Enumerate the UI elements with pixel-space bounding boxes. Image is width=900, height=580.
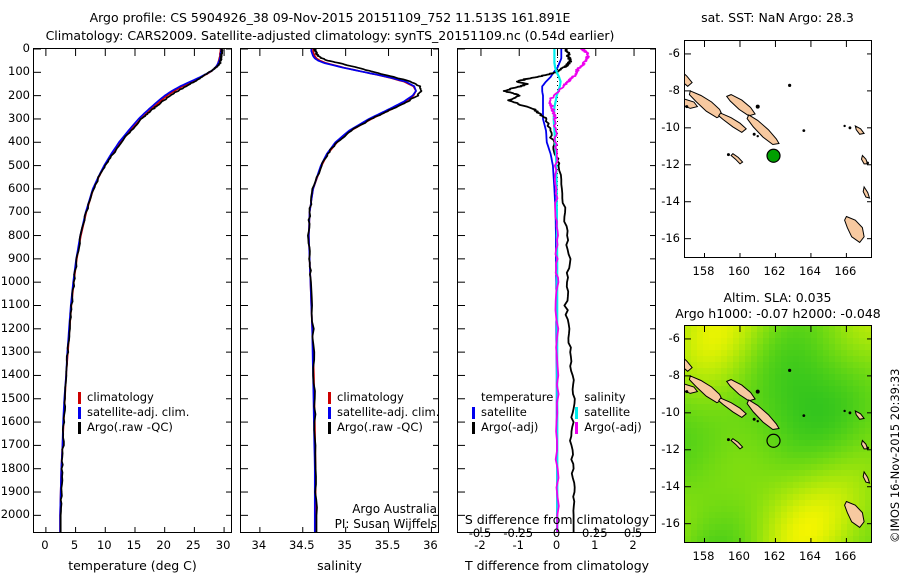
legend-item: Argo(.raw -QC) (78, 420, 189, 435)
axis-tick-label: 162 (754, 549, 794, 563)
page-title-line2: Climatology: CARS2009. Satellite-adjuste… (0, 28, 660, 43)
small-island-dot (843, 410, 845, 412)
axis-tick-label: 1 (575, 538, 615, 552)
axis-tick-label: 162 (754, 264, 794, 278)
plot-canvas (685, 326, 872, 543)
axis-tick-label: 164 (790, 549, 830, 563)
legend-color-swatch (472, 407, 475, 419)
small-island-dot (757, 135, 759, 137)
axis-tick-label: -14 (654, 194, 680, 208)
legend-color-swatch (328, 392, 331, 404)
small-island-dot (788, 84, 791, 87)
data-series-line (60, 49, 220, 533)
axis-tick-label: 34.5 (280, 538, 324, 552)
legend-item: climatology (328, 390, 439, 405)
legend-item: Argo(-adj) (472, 420, 553, 435)
salinity-profile-panel (240, 48, 439, 533)
sla-map-title-line2: Argo h1000: -0.07 h2000: -0.048 (662, 306, 894, 321)
axis-tick-label: 700 (0, 204, 30, 218)
axis-tick-label: 100 (0, 64, 30, 78)
small-island-dot (727, 438, 730, 441)
legend-color-swatch (78, 407, 81, 419)
axis-tick-label: 160 (719, 264, 759, 278)
data-series-line (309, 49, 416, 533)
plot-canvas (685, 41, 872, 258)
coastline-polygon (863, 187, 869, 198)
salinity-legend: climatologysatellite-adj. clim.Argo(.raw… (328, 390, 439, 435)
axis-tick-label: 166 (825, 549, 865, 563)
legend-label: Argo(-adj) (481, 420, 538, 435)
legend-group: temperaturesatelliteArgo(-adj) (472, 390, 553, 435)
legend-label: satellite (584, 405, 630, 420)
legend-item: satellite-adj. clim. (78, 405, 189, 420)
legend-label: climatology (337, 390, 404, 405)
salinity-axis-title: salinity (240, 558, 439, 573)
axis-tick-label: 2000 (0, 507, 30, 521)
axis-tick-label: -8 (654, 83, 680, 97)
axis-tick-label: 35 (323, 538, 367, 552)
small-island-dot (843, 125, 845, 127)
data-series-line (61, 49, 223, 533)
data-series-line (549, 49, 589, 533)
axis-tick-label: -16 (654, 231, 680, 245)
legend-color-swatch (328, 407, 331, 419)
small-island-dot (753, 418, 756, 421)
legend-group-header: salinity (575, 390, 641, 405)
coastline-polygon (855, 126, 864, 134)
small-island-dot (756, 390, 760, 394)
sst-map-panel (684, 40, 872, 258)
legend-label: Argo(.raw -QC) (87, 420, 173, 435)
axis-tick-label: 1100 (0, 297, 30, 311)
legend-color-swatch (575, 407, 578, 419)
data-series-line (60, 49, 221, 533)
small-island-dot (802, 129, 805, 132)
legend-label: satellite (481, 405, 527, 420)
small-island-dot (757, 420, 759, 422)
axis-tick-label: -2 (460, 538, 500, 552)
axis-tick-label: 164 (790, 264, 830, 278)
axis-tick-label: 1300 (0, 344, 30, 358)
axis-tick-label: 160 (719, 549, 759, 563)
legend-item: Argo(.raw -QC) (328, 420, 439, 435)
legend-item: Argo(-adj) (575, 420, 641, 435)
axis-tick-label: -14 (654, 479, 680, 493)
page-title-line1: Argo profile: CS 5904926_38 09-Nov-2015 … (0, 10, 660, 25)
axis-tick-label: 1000 (0, 274, 30, 288)
legend-color-swatch (575, 422, 578, 434)
coastline-polygon (685, 56, 692, 87)
axis-tick-label: 1200 (0, 321, 30, 335)
temperature-difference-axis-title: T difference from climatology (452, 558, 662, 573)
small-island-dot (756, 105, 760, 109)
axis-tick-label: 158 (684, 549, 724, 563)
axis-tick-label: 200 (0, 88, 30, 102)
axis-tick-label: 36 (408, 538, 452, 552)
sla-map-panel (684, 325, 872, 543)
axis-tick-label: 158 (684, 264, 724, 278)
small-island-dot (866, 162, 869, 165)
axis-tick-label: 1800 (0, 461, 30, 475)
temperature-axis-title: temperature (deg C) (33, 558, 232, 573)
axis-tick-label: 500 (0, 158, 30, 172)
plot-canvas (241, 49, 439, 533)
legend-item: satellite (472, 405, 553, 420)
axis-tick-label: -6 (654, 331, 680, 345)
plot-canvas (34, 49, 232, 533)
temperature-profile-panel (33, 48, 232, 533)
salinity-difference-axis-title: S difference from climatology (452, 512, 662, 527)
plot-canvas (458, 49, 656, 533)
data-series-line (504, 49, 575, 533)
axis-tick-label: 1600 (0, 414, 30, 428)
small-island-dot (802, 414, 805, 417)
sla-map-title-line1: Altim. SLA: 0.035 (670, 290, 885, 305)
axis-tick-label: 0.5 (609, 526, 657, 540)
legend-color-swatch (472, 422, 475, 434)
axis-tick-label: -8 (654, 368, 680, 382)
coastline-polygon (719, 113, 747, 132)
axis-tick-label: 600 (0, 181, 30, 195)
credit-line1: Argo Australia (239, 502, 437, 516)
small-island-dot (753, 133, 756, 136)
axis-tick-label: -1 (498, 538, 538, 552)
axis-tick-label: 1500 (0, 391, 30, 405)
sst-map-title: sat. SST: NaN Argo: 28.3 (670, 10, 885, 25)
small-island-dot (685, 105, 688, 108)
legend-color-swatch (78, 392, 81, 404)
legend-group: salinitysatelliteArgo(-adj) (575, 390, 641, 435)
small-island-dot (788, 369, 791, 372)
legend-label: climatology (87, 390, 154, 405)
axis-tick-label: -16 (654, 516, 680, 530)
credit-line2: PI: Susan Wijffels (239, 517, 437, 531)
axis-tick-label: 35.5 (366, 538, 410, 552)
legend-label: Argo(-adj) (584, 420, 641, 435)
legend-item: satellite-adj. clim. (328, 405, 439, 420)
small-island-dot (685, 390, 688, 393)
legend-color-swatch (78, 422, 81, 434)
axis-tick-label: -12 (654, 157, 680, 171)
small-island-dot (849, 411, 852, 414)
axis-tick-label: 1900 (0, 484, 30, 498)
small-island-dot (727, 153, 730, 156)
float-position-marker (767, 149, 780, 162)
difference-legend: temperaturesatelliteArgo(-adj)salinitysa… (472, 390, 642, 435)
axis-tick-label: 900 (0, 251, 30, 265)
legend-color-swatch (328, 422, 331, 434)
axis-tick-label: 300 (0, 111, 30, 125)
copyright-label: ©IMOS 16-Nov-2015 20:39:33 (888, 369, 900, 543)
axis-tick-label: 0 (0, 41, 30, 55)
temperature-legend: climatologysatellite-adj. clim.Argo(.raw… (78, 390, 189, 435)
axis-tick-label: 400 (0, 134, 30, 148)
small-island-dot (866, 447, 869, 450)
axis-tick-label: 2 (613, 538, 653, 552)
axis-tick-label: 0 (537, 538, 577, 552)
legend-label: satellite-adj. clim. (87, 405, 189, 420)
coastline-polygon (747, 115, 779, 145)
axis-tick-label: 1700 (0, 437, 30, 451)
axis-tick-label: -12 (654, 442, 680, 456)
axis-tick-label: -6 (654, 46, 680, 60)
small-island-dot (849, 126, 852, 129)
coastline-polygon (731, 154, 743, 164)
coastline-polygon (845, 217, 865, 243)
axis-tick-label: -10 (654, 120, 680, 134)
difference-profile-panel (457, 48, 656, 533)
axis-tick-label: 166 (825, 264, 865, 278)
legend-label: satellite-adj. clim. (337, 405, 439, 420)
axis-tick-label: 800 (0, 228, 30, 242)
legend-group-header: temperature (472, 390, 553, 405)
data-series-line (309, 49, 416, 533)
axis-tick-label: -10 (654, 405, 680, 419)
sla-field (685, 326, 872, 543)
axis-tick-label: 1400 (0, 367, 30, 381)
axis-tick-label: 34 (237, 538, 281, 552)
legend-label: Argo(.raw -QC) (337, 420, 423, 435)
coastline-polygon (727, 95, 755, 116)
legend-item: climatology (78, 390, 189, 405)
legend-item: satellite (575, 405, 641, 420)
